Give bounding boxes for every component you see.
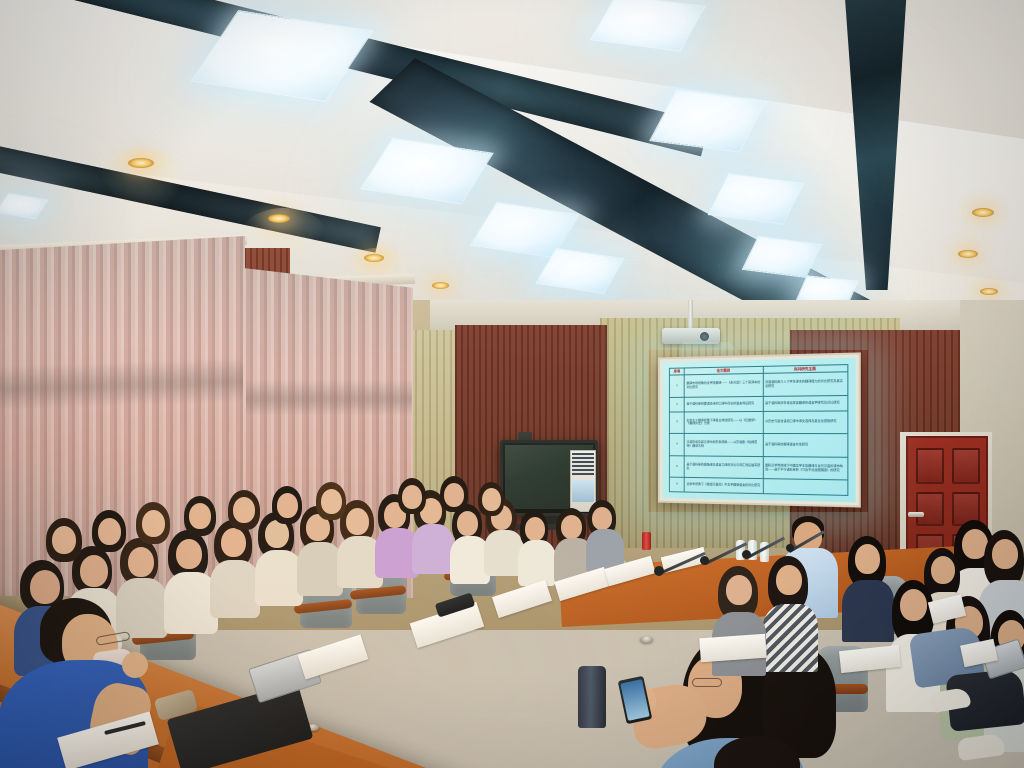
cell-no: 5 [669, 456, 684, 478]
warm-downlight [432, 282, 449, 289]
head [176, 539, 202, 569]
cell-no: 4 [669, 434, 684, 456]
microphone-capsule [700, 556, 709, 565]
head [80, 555, 108, 587]
slide-table: 序号 论文题目 拟共研究主题 1 翻译市场视角的文学性翻译——《永乐宫》三个英译… [669, 364, 848, 496]
head [561, 515, 582, 539]
slide-content: 序号 论文题目 拟共研究主题 1 翻译市场视角的文学性翻译——《永乐宫》三个英译… [663, 358, 856, 503]
papers [298, 634, 369, 679]
cell-title: 翻译市场视角的文学性翻译——《永乐宫》三个英译本的对比研究 [685, 374, 764, 398]
phone-screen [620, 679, 649, 721]
cable-grommet [640, 636, 653, 643]
warm-downlight [980, 288, 998, 295]
cell-topic [763, 479, 848, 495]
microphone-capsule [742, 550, 751, 559]
head [726, 575, 752, 605]
cell-title: 女性主义翻译视角下译者主体性研究——以《红楼梦》《儒林外史》为例 [685, 411, 764, 434]
door-panel [916, 448, 944, 484]
head [776, 565, 802, 595]
torso [412, 524, 454, 574]
head [931, 556, 955, 584]
cell-topic: 基于语料库的翻译语言共性研究 [763, 434, 848, 457]
head [457, 511, 478, 536]
cell-topic: 以历史与政治语境口译中译文选择及其文化逻辑研究 [763, 411, 848, 434]
torso [762, 604, 818, 672]
warm-downlight [128, 158, 154, 168]
beverage-can [642, 532, 651, 550]
torso [255, 550, 303, 606]
hand [122, 652, 148, 678]
cell-topic: 双语语料库介入下学生译本的翻译能力的对比研究及其实证研究 [763, 372, 848, 396]
curtain-shadow-band [246, 380, 412, 416]
projector-lens-icon [700, 332, 709, 341]
head [142, 510, 165, 537]
warm-downlight [268, 214, 290, 223]
head [221, 528, 246, 557]
head [592, 507, 612, 530]
head [52, 526, 76, 554]
warm-downlight [958, 250, 978, 258]
slide-table-row: 5 基于语料库的典籍译本语言口译的对比与词汇特征描写研究 国际汉学界视域下中国文… [669, 456, 847, 481]
head [346, 508, 369, 535]
head [402, 485, 422, 509]
av-control-buttons[interactable] [572, 453, 594, 477]
cell-no: 6 [669, 478, 684, 492]
microphone-capsule [654, 566, 664, 576]
head [992, 539, 1018, 569]
cell-title: 基于语料库的藏语史诗的口译中存在的语言特征研究 [685, 397, 764, 412]
cell-topic: 基于语料库的科技文献类翻译的语言学研究及对比研究 [763, 396, 848, 411]
conference-room-photo: 序号 论文题目 拟共研究主题 1 翻译市场视角的文学性翻译——《永乐宫》三个英译… [0, 0, 1024, 768]
torso [210, 560, 260, 618]
slide-table-row: 1 翻译市场视角的文学性翻译——《永乐宫》三个英译本的对比研究 双语语料库介入下… [669, 372, 847, 397]
head [189, 503, 211, 529]
cell-no: 2 [669, 397, 684, 411]
head [855, 544, 880, 574]
cell-no: 3 [669, 412, 684, 434]
cell-no: 1 [669, 375, 684, 397]
av-control-screen [572, 480, 594, 502]
head [233, 497, 255, 523]
papers [699, 634, 767, 663]
door-panel [952, 448, 980, 484]
slide-table-row: 3 女性主义翻译视角下译者主体性研究——以《红楼梦》《儒林外史》为例 以历史与政… [669, 411, 847, 434]
head [444, 483, 464, 507]
head [128, 547, 154, 577]
led-panel [590, 0, 706, 52]
torso [116, 578, 168, 638]
head [900, 589, 927, 621]
torso [518, 540, 556, 586]
head [321, 489, 342, 514]
head [277, 493, 298, 518]
slide-table-row: 4 汉语隐喻及其汉译中的形象转换——以莎翁剧《哈姆雷特》翻译为例 基于语料库的翻… [669, 434, 847, 458]
microphone-capsule [786, 544, 794, 552]
warm-downlight [364, 254, 384, 262]
head [265, 520, 289, 548]
slide-table-row: 2 基于语料库的藏语史诗的口译中存在的语言特征研究 基于语料库的科技文献类翻译的… [669, 396, 847, 412]
slide-table-row: 6 文体学视角下《傲慢与偏见》中文学翻译语言的对比研究 [669, 478, 847, 496]
warm-downlight [972, 208, 994, 217]
projection-screen: 序号 论文题目 拟共研究主题 1 翻译市场视角的文学性翻译——《永乐宫》三个英译… [658, 352, 861, 507]
mobile-phone[interactable] [618, 676, 653, 724]
head [30, 570, 60, 604]
head [482, 488, 501, 511]
projector-mount-pole [688, 300, 693, 330]
cell-topic: 国际汉学界视域下中国文学主体翻译与当代汉语的译作构建——基于平行语料库的《习近平… [763, 456, 848, 480]
thermos-flask [578, 666, 606, 728]
door-panel [916, 492, 944, 526]
head [98, 518, 121, 545]
ceiling-projector [662, 328, 720, 344]
cell-title: 汉语隐喻及其汉译中的形象转换——以莎翁剧《哈姆雷特》翻译为例 [685, 434, 764, 457]
head [525, 517, 545, 541]
cell-title: 基于语料库的典籍译本语言口译的对比与词汇特征描写研究 [685, 456, 764, 479]
curtain-shadow-band [0, 358, 246, 411]
door-handle[interactable] [908, 512, 924, 517]
cell-title: 文体学视角下《傲慢与偏见》中文学翻译语言的对比研究 [685, 478, 764, 494]
eyeglasses-icon [692, 678, 722, 687]
torso [842, 580, 894, 642]
